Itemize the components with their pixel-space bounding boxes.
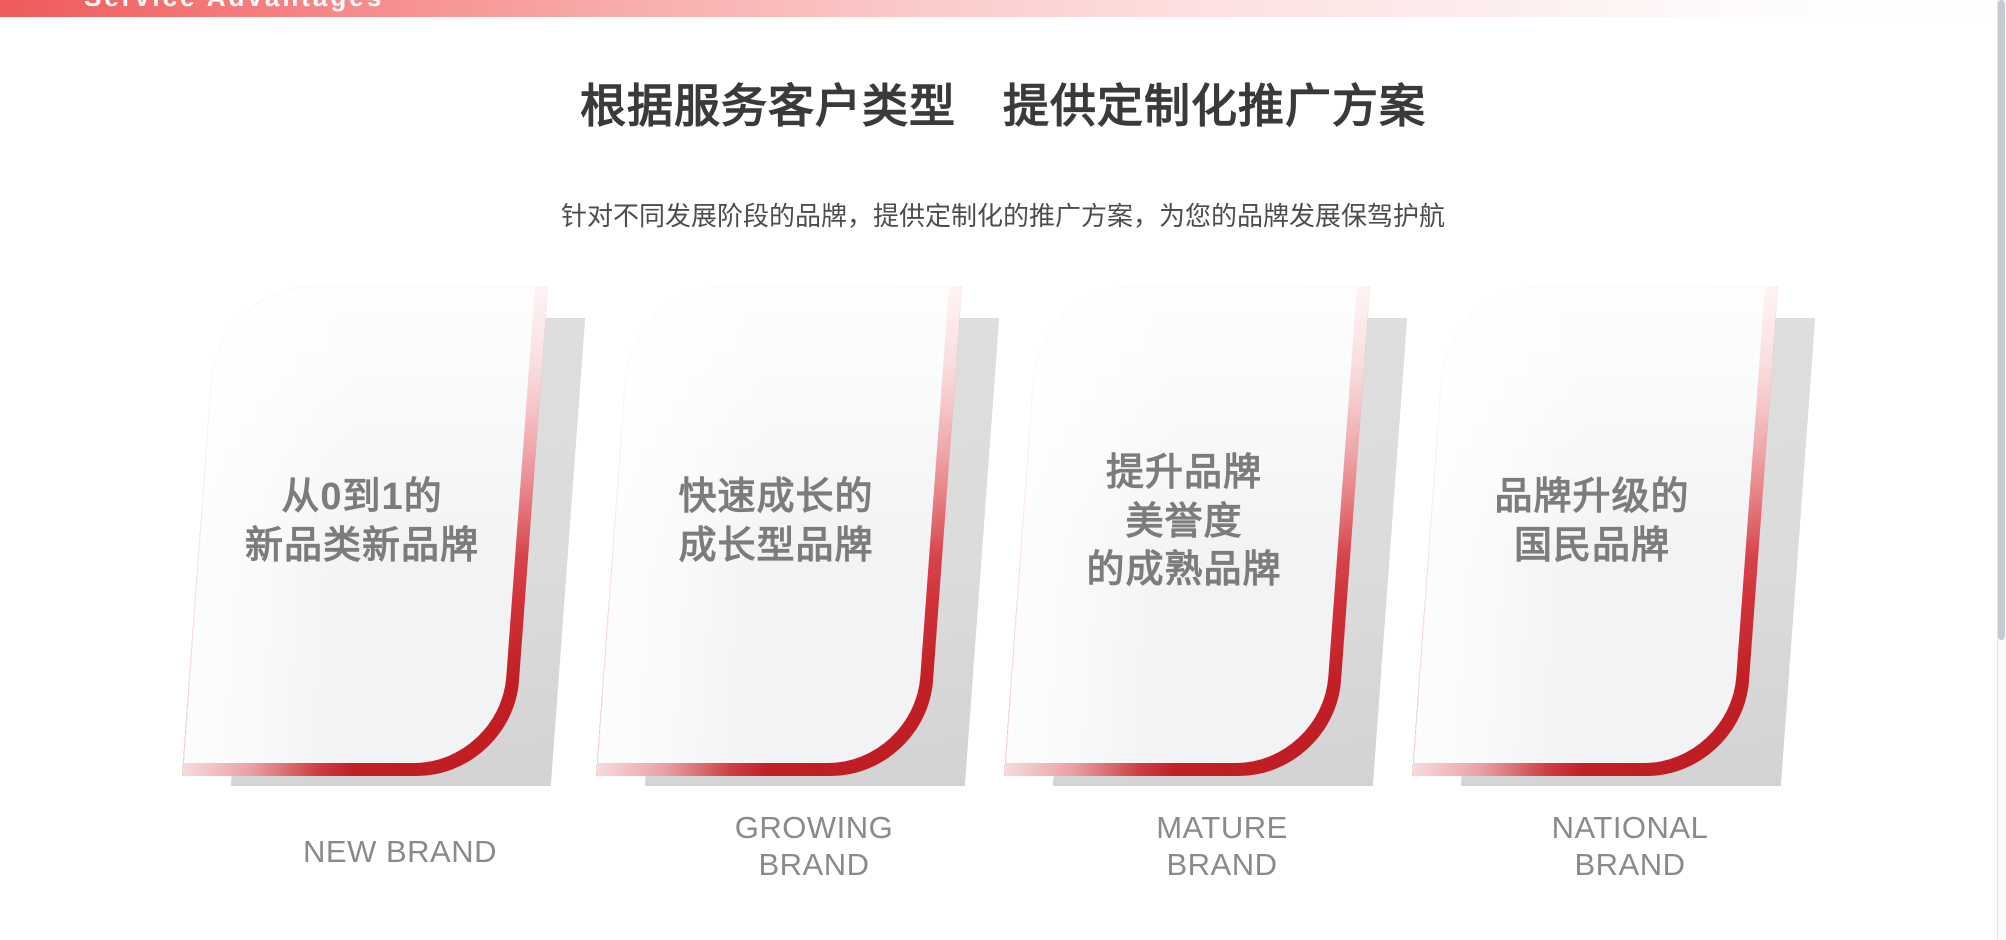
brand-stage-card[interactable]: 提升品牌 美誉度 的成熟品牌 MATURE BRAND (1012, 286, 1432, 806)
card-title: 提升品牌 美誉度 的成熟品牌 (1022, 286, 1352, 776)
page-root: Service Advantages 根据服务客户类型 提供定制化推广方案 针对… (0, 0, 2006, 940)
card-title: 品牌升级的 国民品牌 (1430, 286, 1760, 776)
card-title: 快速成长的 成长型品牌 (614, 286, 944, 776)
card-caption: NEW BRAND (190, 834, 610, 871)
page-scrollbar-thumb[interactable] (1998, 0, 2005, 640)
brand-stage-card[interactable]: 从0到1的 新品类新品牌 NEW BRAND (190, 286, 610, 806)
brand-stage-card[interactable]: 品牌升级的 国民品牌 NATIONAL BRAND (1420, 286, 1840, 806)
page-title: 根据服务客户类型 提供定制化推广方案 (0, 70, 2006, 136)
brand-stage-card[interactable]: 快速成长的 成长型品牌 GROWING BRAND (604, 286, 1024, 806)
card-caption: GROWING BRAND (604, 810, 1024, 883)
page-subtitle: 针对不同发展阶段的品牌，提供定制化的推广方案，为您的品牌发展保驾护航 (0, 196, 2006, 233)
page-scrollbar[interactable] (1997, 0, 2006, 940)
card-caption: NATIONAL BRAND (1420, 810, 1840, 883)
service-advantages-banner: Service Advantages (0, 0, 2006, 17)
brand-stage-card-list: 从0到1的 新品类新品牌 NEW BRAND 快速成长的 成长型品牌 GROWI… (0, 286, 2006, 806)
card-title: 从0到1的 新品类新品牌 (200, 286, 530, 776)
card-caption: MATURE BRAND (1012, 810, 1432, 883)
banner-title: Service Advantages (84, 0, 384, 13)
